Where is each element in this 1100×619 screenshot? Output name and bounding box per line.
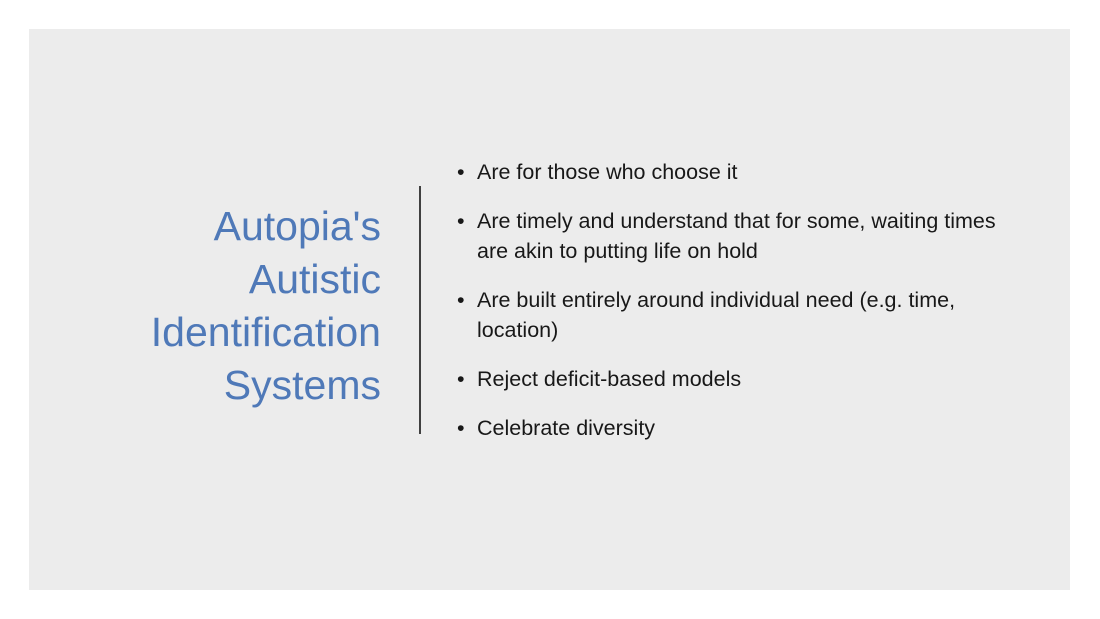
- list-item: • Are timely and understand that for som…: [455, 206, 1017, 266]
- bullet-point-icon: •: [457, 364, 465, 394]
- slide-content: Autopia's Autistic Identification System…: [29, 29, 1070, 590]
- slide-title-block: Autopia's Autistic Identification System…: [85, 200, 381, 412]
- bullet-point-icon: •: [457, 206, 465, 236]
- list-item: • Celebrate diversity: [455, 413, 1017, 443]
- page-title: Autopia's Autistic Identification System…: [85, 200, 381, 412]
- list-item: • Reject deficit-based models: [455, 364, 1017, 394]
- slide-surface: Autopia's Autistic Identification System…: [29, 29, 1070, 590]
- slide-body-block: • Are for those who choose it • Are time…: [455, 157, 1025, 443]
- list-item-label: Are for those who choose it: [477, 157, 1017, 187]
- slide-canvas: Autopia's Autistic Identification System…: [0, 0, 1100, 619]
- list-item-label: Celebrate diversity: [477, 413, 1017, 443]
- bullet-point-icon: •: [457, 157, 465, 187]
- bullet-point-icon: •: [457, 413, 465, 443]
- list-item-label: Reject deficit-based models: [477, 364, 1017, 394]
- list-item: • Are built entirely around individual n…: [455, 285, 1017, 345]
- vertical-divider: [419, 186, 421, 434]
- list-item-label: Are timely and understand that for some,…: [477, 206, 1017, 266]
- list-item: • Are for those who choose it: [455, 157, 1017, 187]
- bullet-point-icon: •: [457, 285, 465, 315]
- bullet-list: • Are for those who choose it • Are time…: [455, 157, 1025, 443]
- list-item-label: Are built entirely around individual nee…: [477, 285, 1017, 345]
